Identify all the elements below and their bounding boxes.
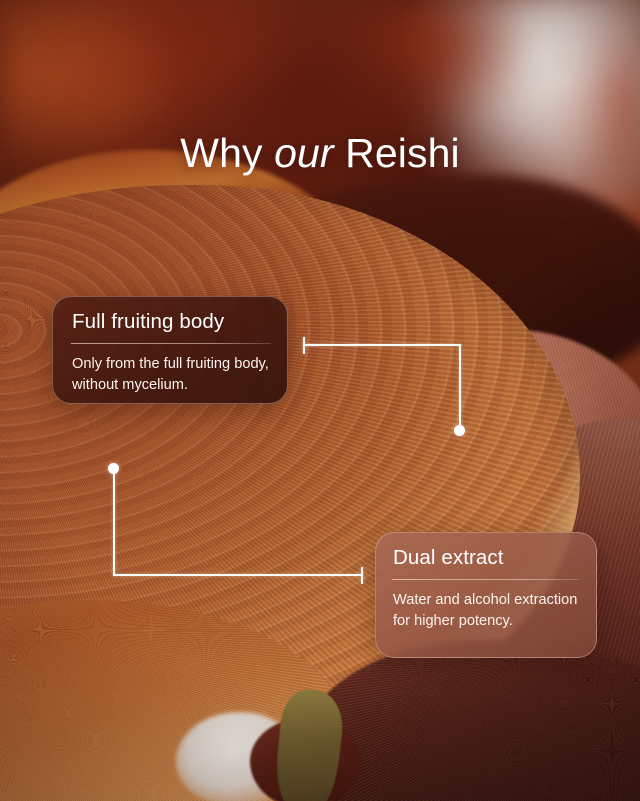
- mushroom-stem: [272, 687, 346, 801]
- connector-line-vertical: [113, 470, 115, 576]
- mushroom-cap-main: [0, 185, 580, 745]
- background-shadow-gap: [250, 175, 640, 395]
- mushroom-cap-lower-left-striations: [0, 600, 350, 801]
- connector-dot-icon: [454, 425, 465, 436]
- card-full-fruiting-body: Full fruiting body Only from the full fr…: [52, 296, 288, 404]
- page-title-emphasis: our: [274, 130, 334, 176]
- mushroom-knob-bottom: [250, 718, 360, 801]
- background-light-gap: [167, 701, 304, 801]
- mushroom-cap-main-rings: [0, 185, 580, 745]
- background-blurred-top: [0, 0, 640, 215]
- card-title: Full fruiting body: [72, 310, 287, 334]
- mushroom-cap-main-rim: [0, 185, 580, 745]
- mushroom-cap-bottom-right-striations: [300, 640, 640, 801]
- card-title: Dual extract: [393, 546, 596, 570]
- connector-line-vertical: [459, 344, 461, 432]
- page-title-part-1: Why: [180, 130, 274, 176]
- card-divider: [71, 343, 271, 344]
- card-body: Water and alcohol extraction for higher …: [393, 590, 584, 632]
- card-body: Only from the full fruiting body, withou…: [72, 354, 273, 396]
- mushroom-cap-main-striations: [0, 185, 580, 745]
- card-dual-extract: Dual extract Water and alcohol extractio…: [375, 532, 597, 658]
- card-divider: [392, 579, 579, 580]
- page-title-part-2: Reishi: [334, 130, 460, 176]
- connector-line-horizontal: [303, 344, 461, 346]
- page-title: Why our Reishi: [0, 131, 640, 176]
- mushroom-cap-lower-left: [0, 600, 350, 801]
- reishi-infographic: Why our Reishi Full fruiting body Only f…: [0, 0, 640, 801]
- connector-line-horizontal: [113, 574, 363, 576]
- mushroom-cap-bottom-right: [300, 640, 640, 801]
- connector-tick-icon: [361, 567, 363, 584]
